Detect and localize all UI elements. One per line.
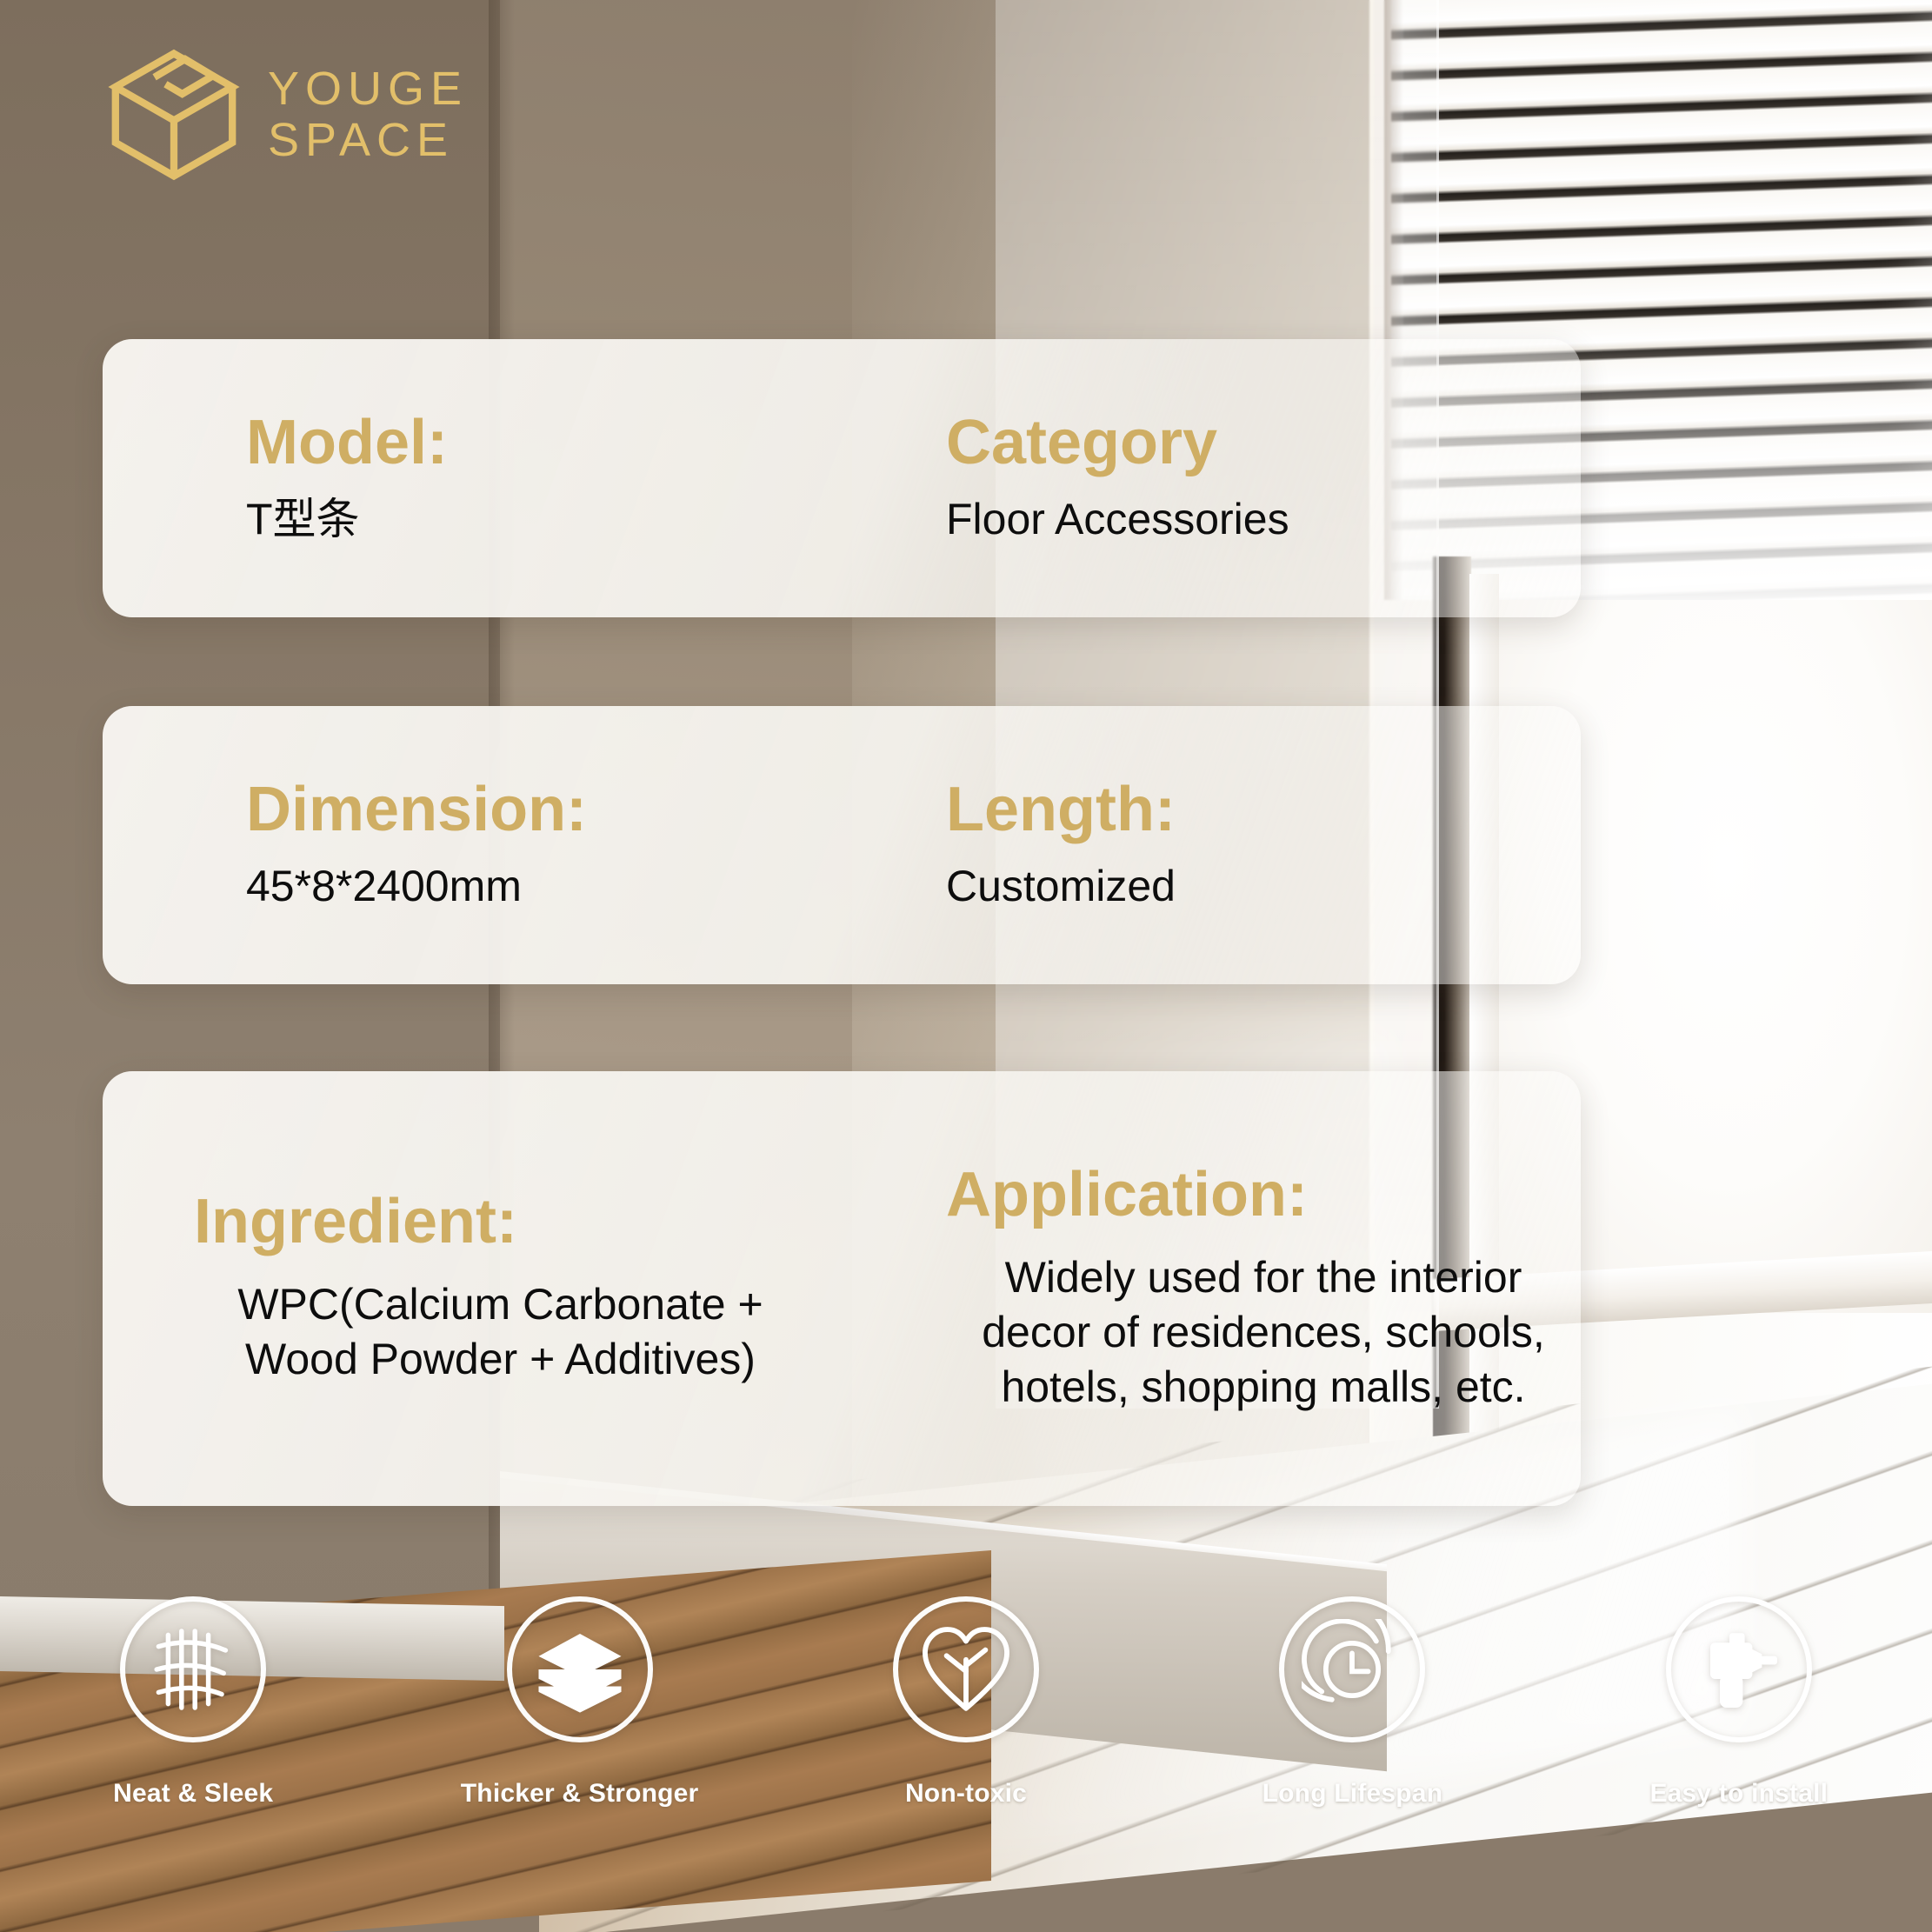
spec-label-application: Application: bbox=[946, 1163, 1581, 1226]
power-drill-icon bbox=[1666, 1596, 1812, 1742]
feature-easy-to-install: Easy to install bbox=[1546, 1596, 1932, 1809]
spec-field-ingredient: Ingredient: WPC(Calcium Carbonate + Wood… bbox=[103, 1071, 911, 1506]
spec-field-model: Model: T型条 bbox=[103, 339, 911, 617]
layers-stack-icon bbox=[507, 1596, 653, 1742]
feature-label: Long Lifespan bbox=[1262, 1779, 1443, 1809]
heart-leaf-icon bbox=[893, 1596, 1039, 1742]
spec-label-length: Length: bbox=[946, 778, 1581, 841]
spec-card-model-category: Model: T型条 Category Floor Accessories bbox=[103, 339, 1581, 617]
spec-value-application: Widely used for the interior decor of re… bbox=[946, 1250, 1581, 1415]
spec-value-category: Floor Accessories bbox=[946, 493, 1581, 546]
feature-label: Neat & Sleek bbox=[113, 1779, 273, 1809]
spec-field-dimension: Dimension: 45*8*2400mm bbox=[103, 706, 911, 984]
spec-value-length: Customized bbox=[946, 860, 1581, 913]
woven-mesh-icon bbox=[120, 1596, 266, 1742]
feature-non-toxic: Non-toxic bbox=[773, 1596, 1159, 1809]
spec-field-category: Category Floor Accessories bbox=[911, 339, 1581, 617]
feature-neat-sleek: Neat & Sleek bbox=[0, 1596, 386, 1809]
product-spec-poster: YOUGE SPACE Model: T型条 Category Floor Ac… bbox=[0, 0, 1932, 1932]
spec-label-model: Model: bbox=[246, 411, 911, 474]
spec-field-application: Application: Widely used for the interio… bbox=[911, 1071, 1581, 1506]
spec-card-ingredient-application: Ingredient: WPC(Calcium Carbonate + Wood… bbox=[103, 1071, 1581, 1506]
spec-field-length: Length: Customized bbox=[911, 706, 1581, 984]
spec-card-dimension-length: Dimension: 45*8*2400mm Length: Customize… bbox=[103, 706, 1581, 984]
clock-timer-icon bbox=[1279, 1596, 1425, 1742]
feature-label: Thicker & Stronger bbox=[461, 1779, 699, 1809]
feature-thicker-stronger: Thicker & Stronger bbox=[386, 1596, 772, 1809]
spec-label-ingredient: Ingredient: bbox=[194, 1190, 911, 1253]
spec-value-dimension: 45*8*2400mm bbox=[246, 860, 911, 913]
feature-list: Neat & Sleek Thicker & Stronger bbox=[0, 1596, 1932, 1875]
feature-label: Easy to install bbox=[1649, 1779, 1828, 1809]
spec-label-category: Category bbox=[946, 411, 1581, 474]
spec-value-ingredient: WPC(Calcium Carbonate + Wood Powder + Ad… bbox=[194, 1277, 911, 1387]
spec-label-dimension: Dimension: bbox=[246, 778, 911, 841]
feature-label: Non-toxic bbox=[905, 1779, 1027, 1809]
feature-long-lifespan: Long Lifespan bbox=[1159, 1596, 1545, 1809]
spec-value-model: T型条 bbox=[246, 493, 911, 546]
